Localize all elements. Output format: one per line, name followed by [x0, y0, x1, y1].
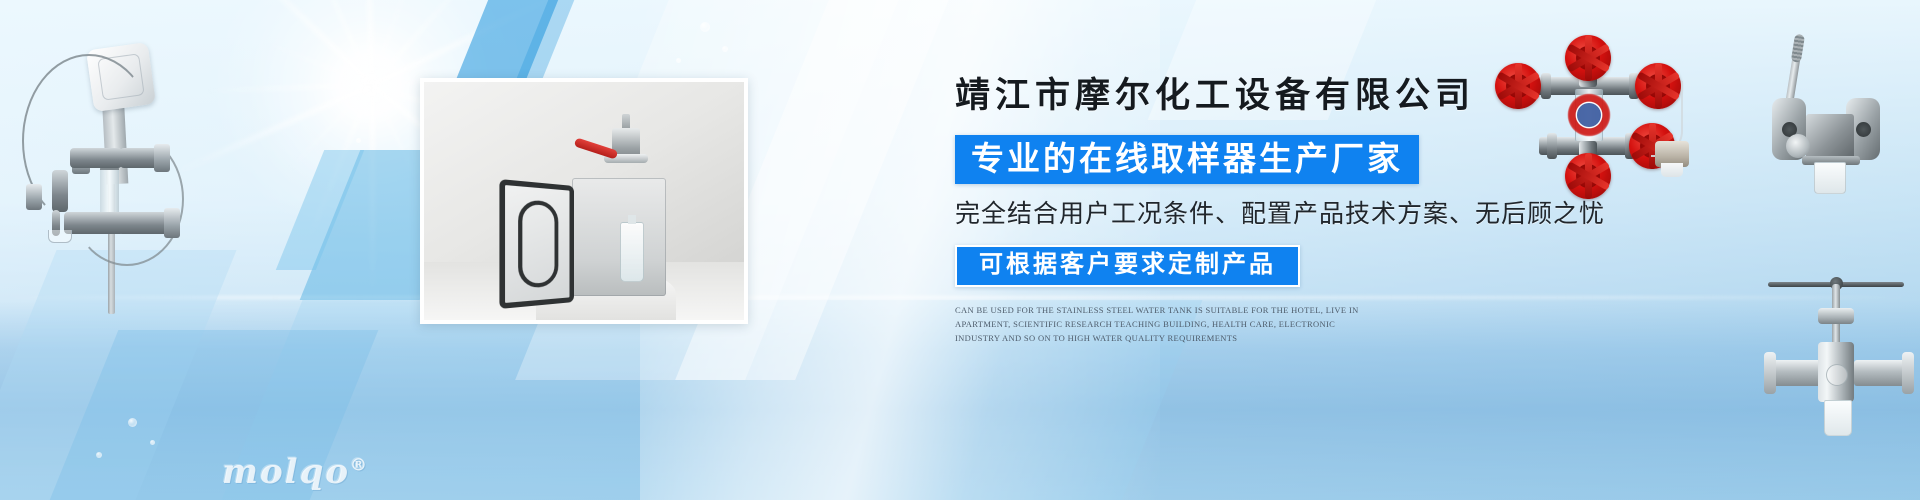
registered-trademark-icon: ® [350, 456, 369, 476]
cabinet-body [572, 178, 666, 296]
water-droplet [150, 440, 155, 445]
sampling-valve-head [604, 114, 648, 174]
pipe-flange-left [1764, 352, 1776, 394]
sample-cup [48, 230, 72, 243]
pipe-arm-right [1854, 360, 1906, 386]
outlet-cup [1661, 163, 1683, 177]
pipe-arm-left [1770, 360, 1822, 386]
brand-seal-icon [1826, 364, 1848, 386]
subheadline: 完全结合用户工况条件、配置产品技术方案、无后顾之忧 [955, 202, 1685, 227]
water-droplet [700, 22, 710, 32]
product-photo-cabinet-sampler [420, 78, 748, 324]
water-droplet [96, 452, 102, 458]
water-droplet [676, 58, 681, 63]
watermark-text: molqo [222, 452, 350, 492]
valve-flange [164, 208, 180, 238]
valve-body [70, 148, 122, 168]
cabinet-door [499, 179, 574, 309]
adjustment-knob [1786, 134, 1810, 158]
english-description: CAN BE USED FOR THE STAINLESS STEEL WATE… [955, 303, 1380, 345]
custom-product-badge: 可根据客户要求定制产品 [955, 245, 1300, 287]
product-image-lever-valve [1768, 22, 1920, 217]
handwheel-red [1565, 35, 1611, 81]
valve-body [118, 212, 170, 234]
handwheel-red [1495, 63, 1541, 109]
sample-cup [1824, 400, 1852, 436]
sample-bottle [620, 222, 644, 282]
water-droplet [722, 46, 728, 52]
water-droplet [128, 418, 137, 427]
product-image-pole-sampler [8, 24, 198, 314]
flange-joint [1541, 73, 1551, 99]
valve-body [64, 212, 124, 234]
door-gasket [518, 199, 558, 288]
product-image-cross-valve [1483, 33, 1698, 178]
flange-joint [1547, 133, 1557, 159]
quality-seal-icon [1567, 93, 1611, 137]
relief-valve [52, 170, 68, 212]
valve-flange [26, 184, 42, 210]
pipe-flange-right [1902, 352, 1914, 394]
promo-banner: 靖江市摩尔化工设备有限公司 专业的在线取样器生产厂家 完全结合用户工况条件、配置… [0, 0, 1920, 500]
product-image-tee-valve [1762, 272, 1920, 457]
valve-flange [154, 144, 170, 172]
headline-badge: 专业的在线取样器生产厂家 [955, 135, 1419, 184]
watermark-logo: molqo® [222, 452, 369, 492]
valve-body [1806, 114, 1854, 160]
water-droplet [356, 138, 361, 143]
valve-bonnet [1818, 308, 1854, 324]
sample-cup [1814, 162, 1846, 194]
handwheel-red [1565, 153, 1611, 199]
